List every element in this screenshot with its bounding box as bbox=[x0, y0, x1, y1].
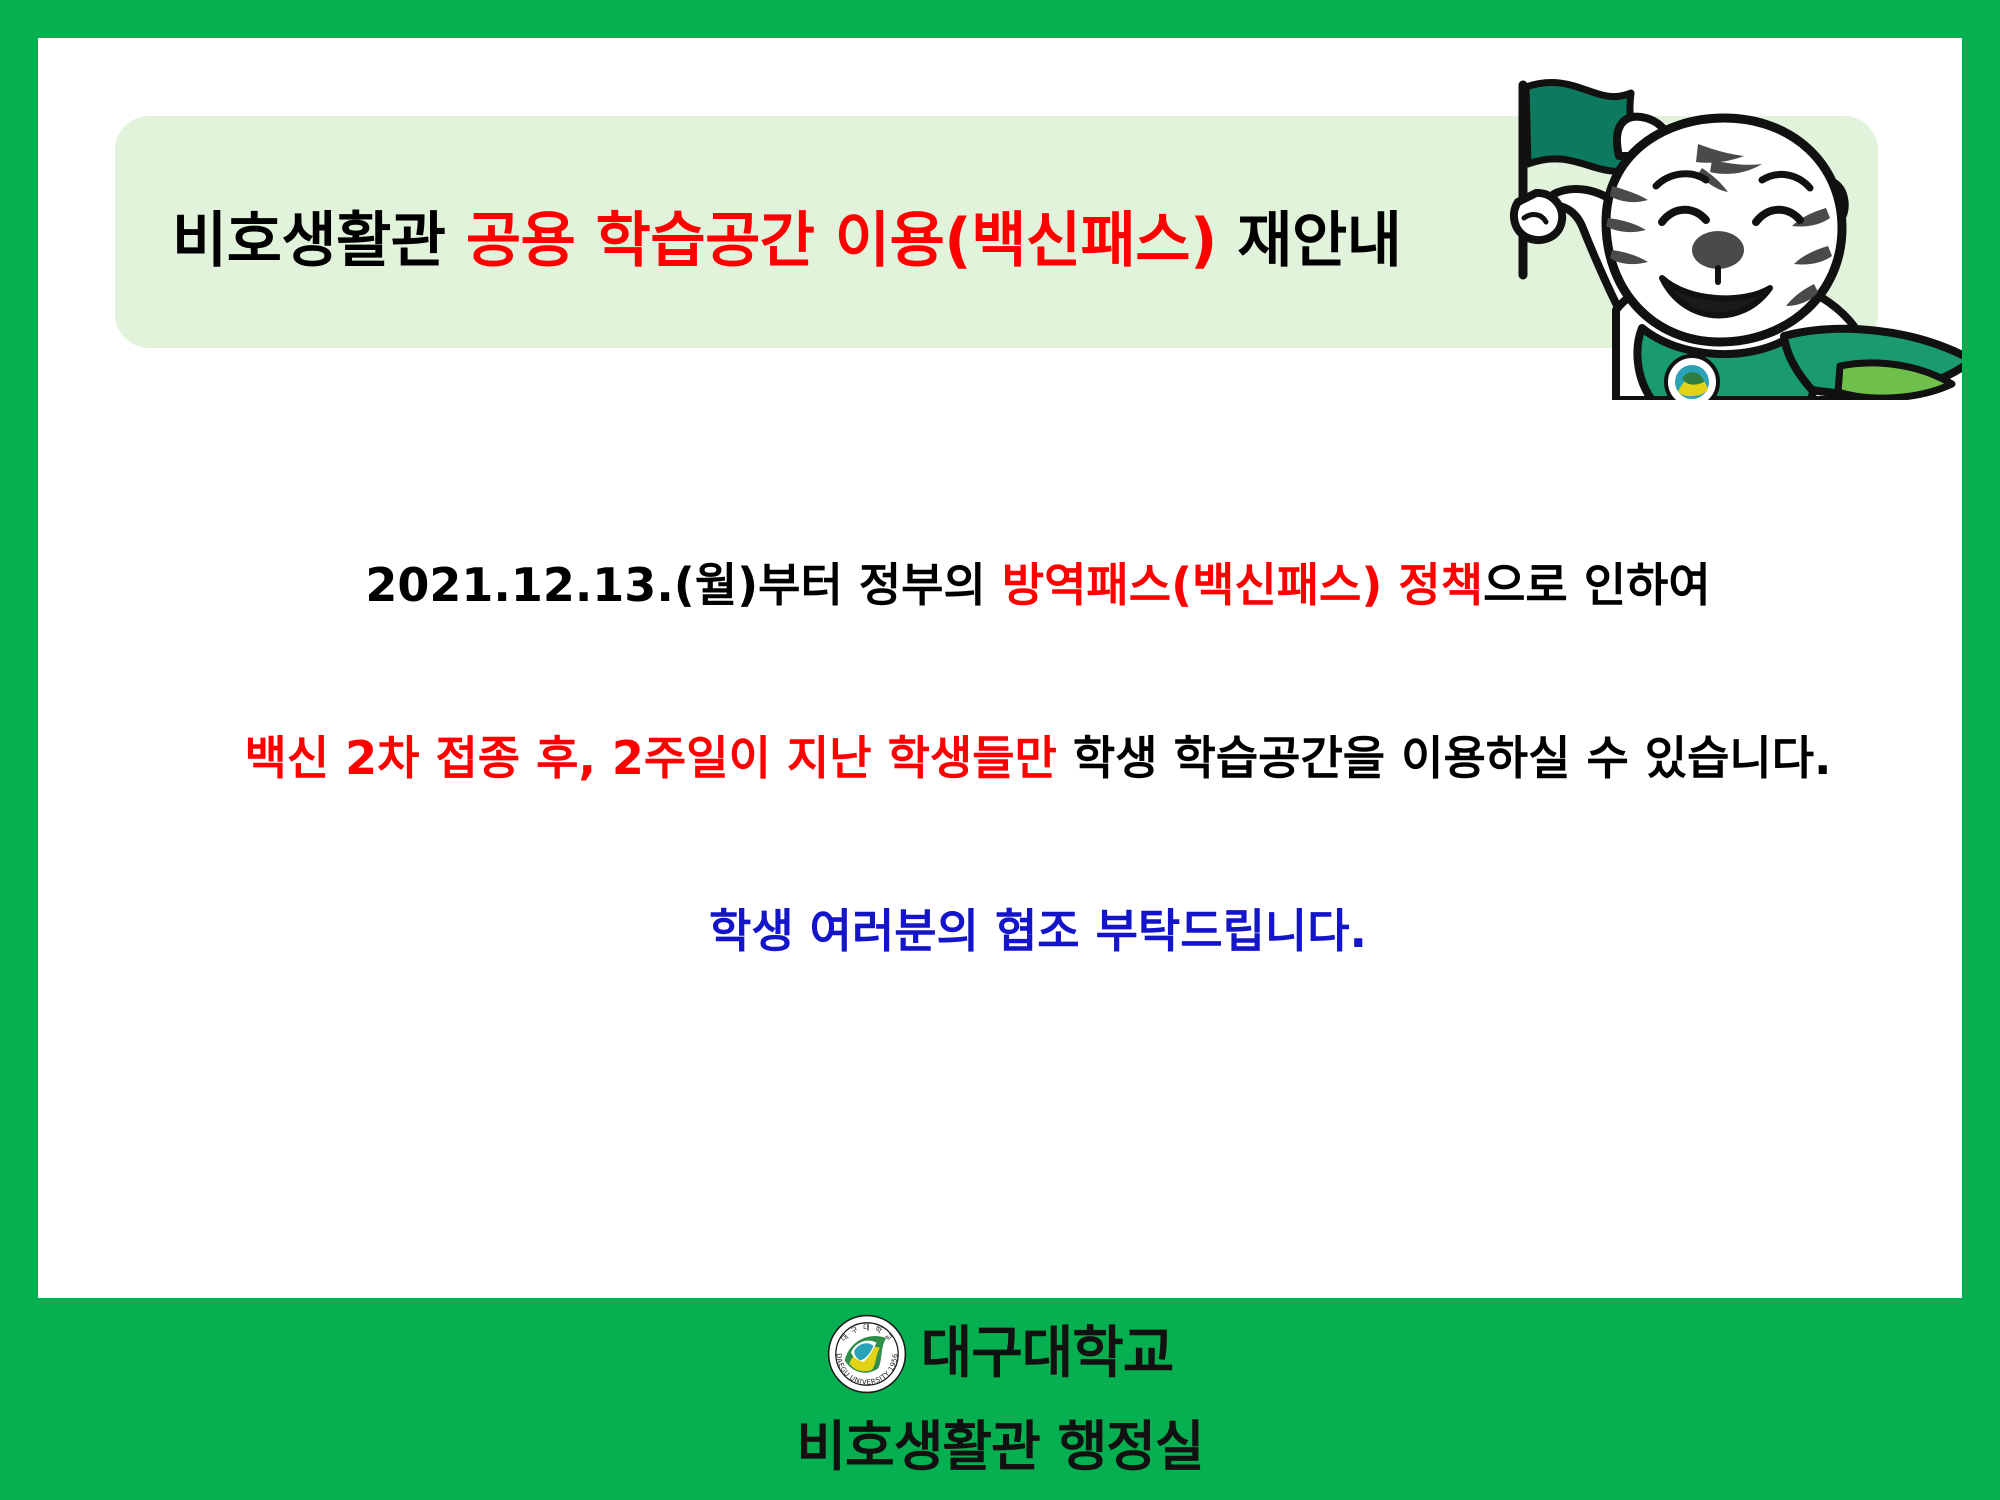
body-line-2: 백신 2차 접종 후, 2주일이 지난 학생들만 학생 학습공간을 이용하실 수… bbox=[76, 731, 1962, 786]
page-title-part1: 비호생활관 bbox=[172, 206, 466, 276]
body-line-2-post: 학생 학습공간을 이용하실 수 있습니다. bbox=[1057, 731, 1832, 785]
footer-university-name: 대구대학교 bbox=[921, 1326, 1174, 1382]
footer-office-name: 비호생활관 행정실 bbox=[796, 1402, 1203, 1481]
body-line-2-highlight: 백신 2차 접종 후, 2주일이 지난 학생들만 bbox=[244, 731, 1056, 785]
body-line-1: 2021.12.13.(월)부터 정부의 방역패스(백신패스) 정책으로 인하여 bbox=[76, 558, 1962, 613]
page-title-part2: 재안내 bbox=[1217, 206, 1402, 276]
daegu-university-seal-icon: 대 구 대 학 교 DAEGU UNIVERSITY 1956 bbox=[827, 1314, 907, 1394]
poster-canvas: 비호생활관 공용 학습공간 이용(백신패스) 재안내 bbox=[0, 0, 2000, 1500]
body-line-1-highlight: 방역패스(백신패스) 정책 bbox=[1002, 558, 1483, 612]
mascot-badge bbox=[1666, 356, 1718, 400]
announcement-body: 2021.12.13.(월)부터 정부의 방역패스(백신패스) 정책으로 인하여… bbox=[76, 558, 1962, 960]
page-title-highlight: 공용 학습공간 이용(백신패스) bbox=[466, 206, 1217, 276]
body-line-1-post: 으로 인하여 bbox=[1483, 558, 1711, 612]
body-line-3: 학생 여러분의 협조 부탁드립니다. bbox=[76, 904, 1962, 959]
body-spacer-1 bbox=[76, 613, 1962, 731]
poster-footer: 대 구 대 학 교 DAEGU UNIVERSITY 1956 대구대학교 비호… bbox=[0, 1298, 2000, 1500]
body-spacer-2 bbox=[76, 786, 1962, 904]
footer-brand: 대 구 대 학 교 DAEGU UNIVERSITY 1956 대구대학교 bbox=[827, 1314, 1174, 1394]
body-line-1-pre: 2021.12.13.(월)부터 정부의 bbox=[365, 558, 1001, 612]
content-sheet: 비호생활관 공용 학습공간 이용(백신패스) 재안내 bbox=[38, 38, 1962, 1298]
page-title: 비호생활관 공용 학습공간 이용(백신패스) 재안내 bbox=[172, 210, 1672, 273]
